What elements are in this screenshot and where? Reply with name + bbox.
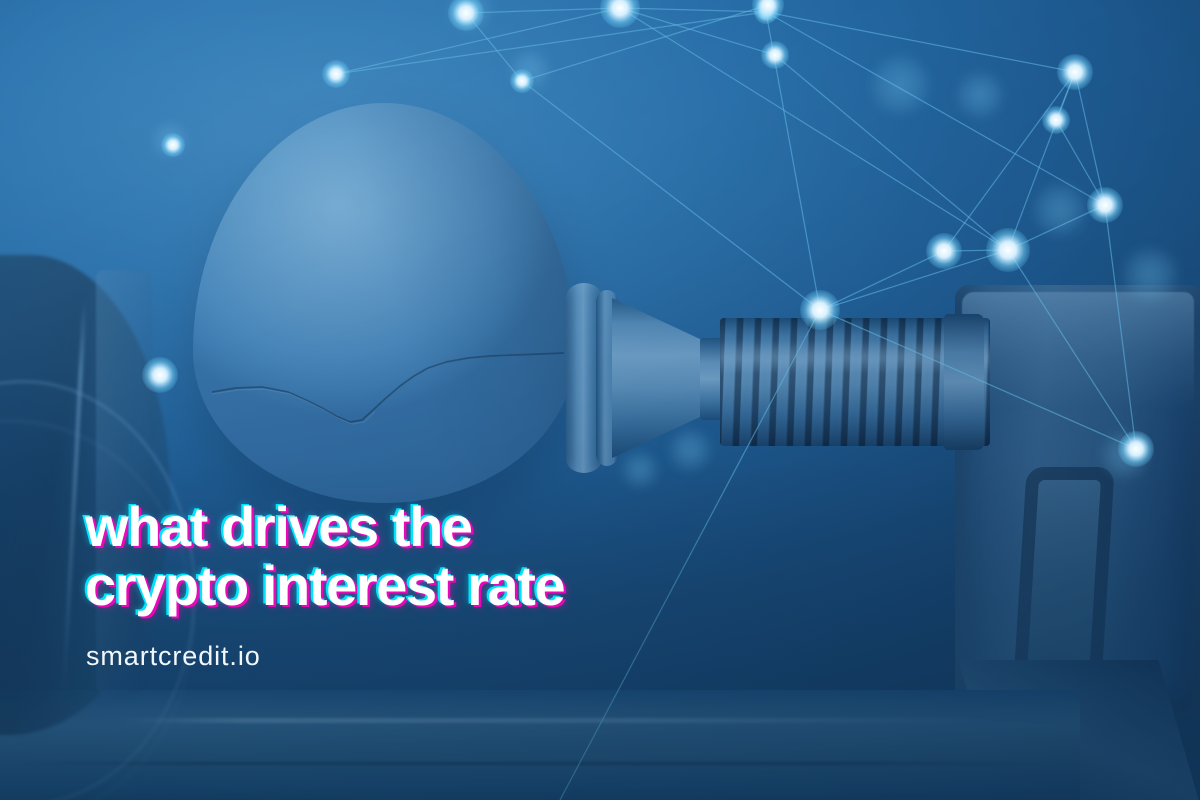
headline-line-2: crypto interest rate <box>85 556 564 615</box>
page-title: what drives the crypto interest rate <box>85 497 564 615</box>
banner-image: what drives the crypto interest rate sma… <box>0 0 1200 800</box>
text-block: what drives the crypto interest rate sma… <box>85 497 564 672</box>
site-url-label: smartcredit.io <box>86 641 564 672</box>
headline-line-1: what drives the <box>85 497 564 556</box>
